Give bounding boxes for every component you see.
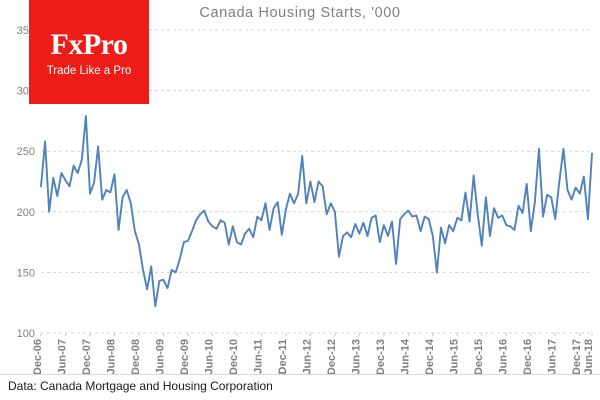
x-axis-tick-label: Jun-08	[105, 339, 117, 374]
x-axis-tick-label: Dec-14	[424, 338, 436, 375]
chart-container: Canada Housing Starts, '000 100150200250…	[0, 0, 600, 400]
x-axis-tick-label: Jun-15	[448, 339, 460, 374]
x-axis-tick-label: Dec-16	[522, 339, 534, 375]
x-axis-tick-label: Jun-13	[350, 339, 362, 374]
y-axis-tick-label: 100	[17, 328, 35, 340]
y-axis-tick-label: 250	[17, 146, 35, 158]
fxpro-logo-tagline: Trade Like a Pro	[29, 66, 149, 78]
x-axis-tick-label: Dec-09	[179, 339, 191, 375]
x-axis-tick-label: Jun-16	[497, 339, 509, 374]
x-axis-tick-label: Dec-08	[130, 339, 142, 375]
x-axis-tick-label: Dec-06	[32, 339, 44, 375]
x-axis-tick-label: Jun-17	[546, 339, 558, 374]
x-axis-tick-label: Dec-10	[228, 339, 240, 375]
fxpro-logo-wordmark: FxPro	[29, 30, 149, 60]
x-axis-tick-label: Jun-18	[583, 339, 595, 374]
x-axis-tick-label: Jun-14	[399, 338, 411, 374]
fxpro-logo: FxPro Trade Like a Pro	[29, 0, 149, 104]
x-axis-tick-label: Jun-11	[252, 339, 264, 374]
x-axis-tick-label: Dec-11	[277, 339, 289, 374]
footer-divider	[0, 374, 600, 375]
x-axis-tick-label: Dec-15	[473, 339, 485, 375]
x-axis-tick-label: Jun-09	[154, 339, 166, 374]
x-axis-tick-label: Dec-07	[81, 339, 93, 375]
housing-starts-line-series	[41, 116, 592, 306]
source-note: Data: Canada Mortgage and Housing Corpor…	[8, 379, 273, 393]
x-axis-tick-labels: Dec-06Jun-07Dec-07Jun-08Dec-08Jun-09Dec-…	[32, 333, 595, 375]
x-axis-tick-label: Jun-07	[56, 339, 68, 374]
y-axis-tick-label: 200	[17, 207, 35, 219]
x-axis-tick-label: Dec-17	[571, 339, 583, 375]
x-axis-tick-label: Dec-13	[375, 339, 387, 375]
y-axis-tick-label: 150	[17, 267, 35, 279]
x-axis-tick-label: Jun-12	[301, 339, 313, 374]
x-axis-tick-label: Dec-12	[326, 339, 338, 375]
x-axis-tick-label: Jun-10	[203, 339, 215, 374]
